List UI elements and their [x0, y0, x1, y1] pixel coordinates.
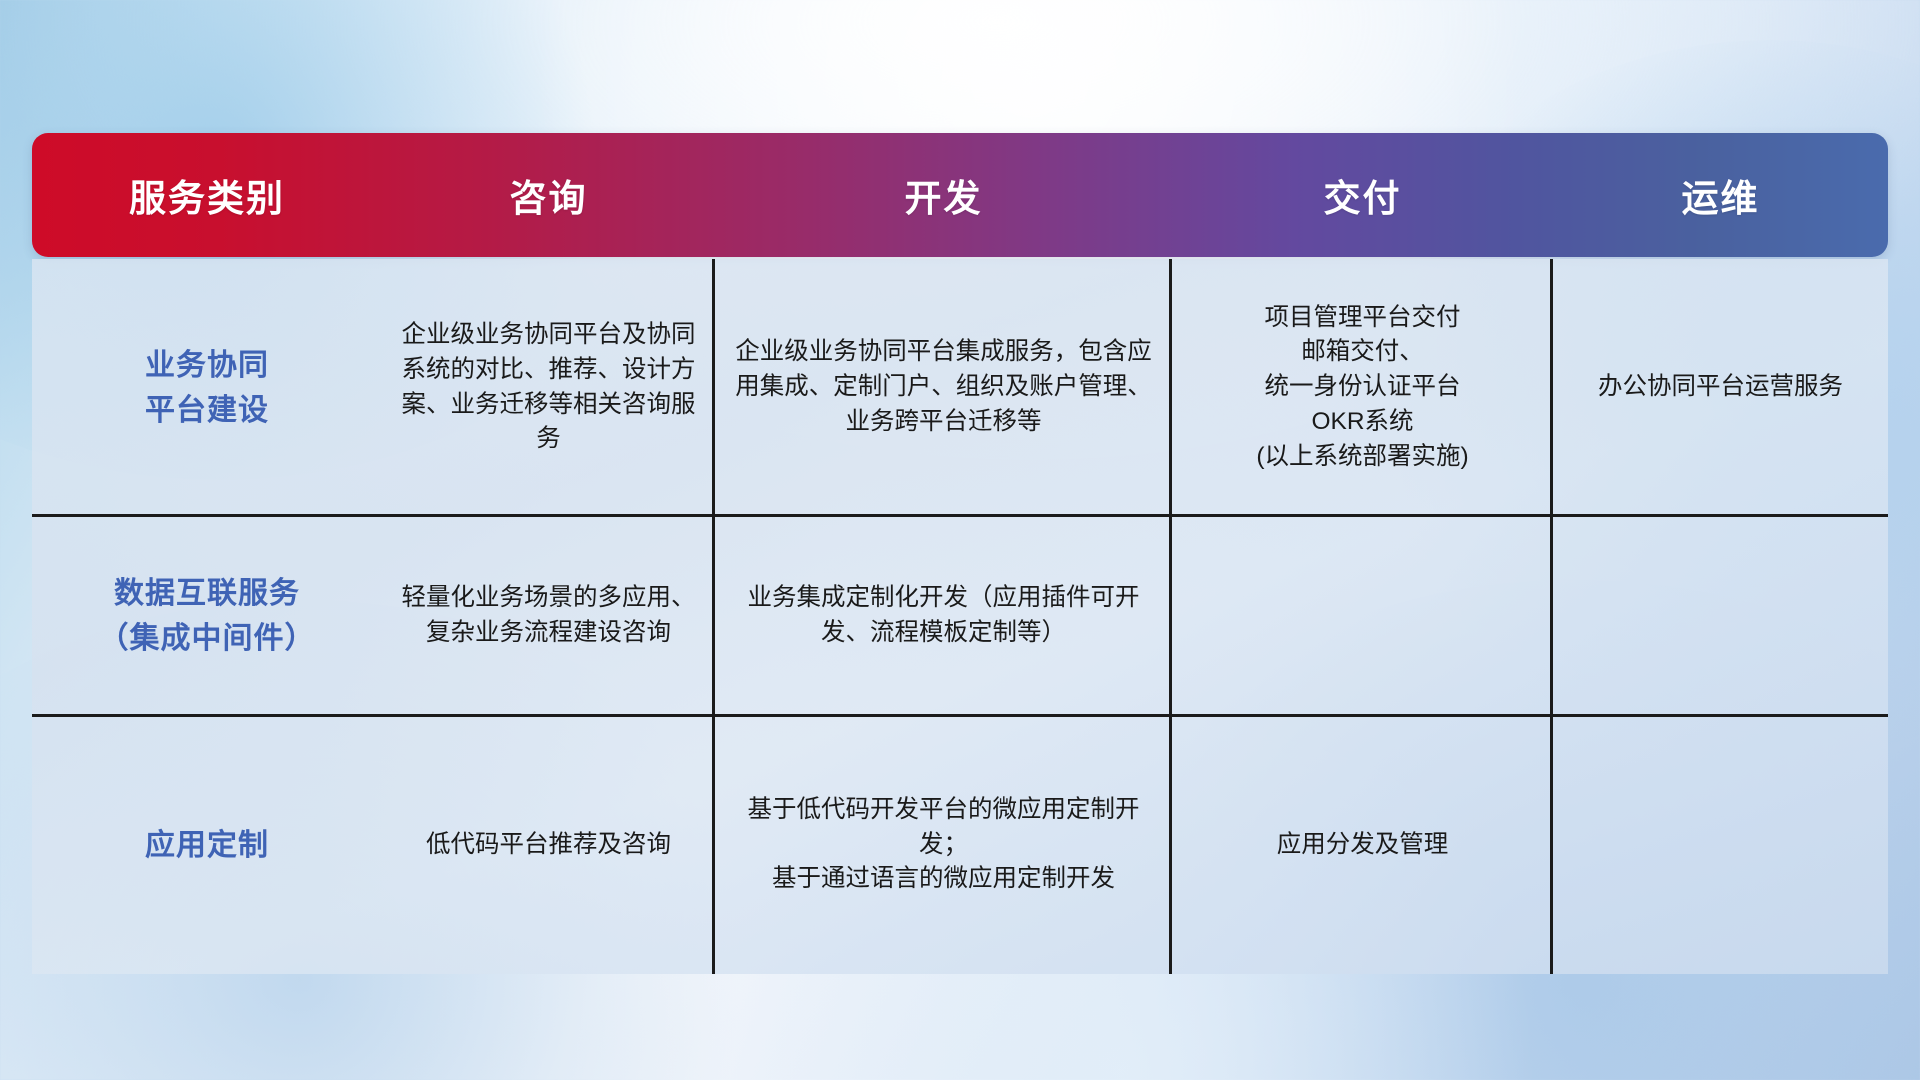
- header-operations: 运维: [1553, 133, 1888, 257]
- cell-development: 基于低代码开发平台的微应用定制开发；基于通过语言的微应用定制开发: [715, 716, 1172, 974]
- table-body: 业务协同平台建设 企业级业务协同平台及协同系统的对比、推荐、设计方案、业务迁移等…: [32, 259, 1888, 974]
- header-delivery: 交付: [1172, 133, 1553, 257]
- cell-operations: 办公协同平台运营服务: [1553, 259, 1888, 516]
- table-row: 应用定制 低代码平台推荐及咨询 基于低代码开发平台的微应用定制开发；基于通过语言…: [32, 716, 1888, 974]
- cell-consulting: 轻量化业务场景的多应用、复杂业务流程建设咨询: [382, 516, 715, 716]
- table-row: 数据互联服务（集成中间件） 轻量化业务场景的多应用、复杂业务流程建设咨询 业务集…: [32, 516, 1888, 716]
- cell-consulting: 企业级业务协同平台及协同系统的对比、推荐、设计方案、业务迁移等相关咨询服务: [382, 259, 715, 516]
- cell-operations: [1553, 716, 1888, 974]
- cell-category: 数据互联服务（集成中间件）: [32, 516, 382, 716]
- table-header-row: 服务类别 咨询 开发 交付 运维: [32, 133, 1888, 257]
- header-service-category: 服务类别: [32, 133, 382, 257]
- cell-delivery: [1172, 516, 1553, 716]
- table-row: 业务协同平台建设 企业级业务协同平台及协同系统的对比、推荐、设计方案、业务迁移等…: [32, 259, 1888, 516]
- cell-development: 企业级业务协同平台集成服务，包含应用集成、定制门户、组织及账户管理、业务跨平台迁…: [715, 259, 1172, 516]
- cell-category: 应用定制: [32, 716, 382, 974]
- header-development: 开发: [715, 133, 1172, 257]
- cell-consulting: 低代码平台推荐及咨询: [382, 716, 715, 974]
- cell-category: 业务协同平台建设: [32, 259, 382, 516]
- cell-delivery: 项目管理平台交付邮箱交付、统一身份认证平台OKR系统(以上系统部署实施): [1172, 259, 1553, 516]
- header-consulting: 咨询: [382, 133, 715, 257]
- cell-delivery: 应用分发及管理: [1172, 716, 1553, 974]
- cell-development: 业务集成定制化开发（应用插件可开发、流程模板定制等）: [715, 516, 1172, 716]
- service-matrix-table: 服务类别 咨询 开发 交付 运维 业务协同平台建设 企业级业务协同平台及协同系统…: [32, 133, 1888, 974]
- cell-operations: [1553, 516, 1888, 716]
